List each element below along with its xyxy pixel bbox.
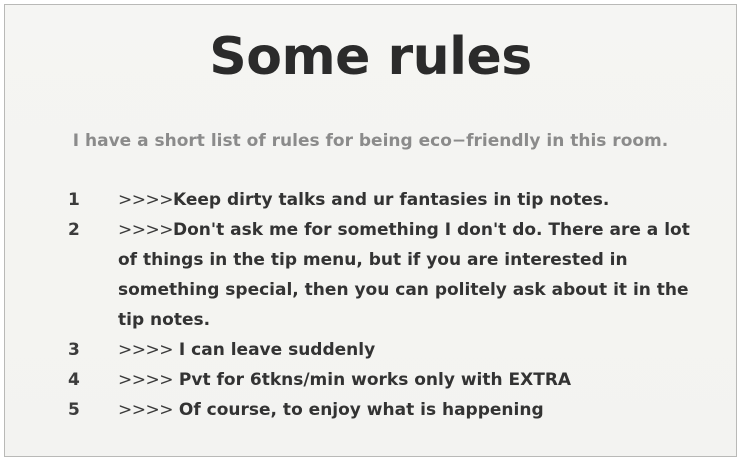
rule-number: 3 <box>68 335 118 365</box>
chevron-marker-icon: >>>> <box>118 400 173 420</box>
page-subtitle: I have a short list of rules for being e… <box>5 131 736 151</box>
rule-text-content: Keep dirty talks and ur fantasies in tip… <box>173 190 609 210</box>
chevron-marker-icon: >>>> <box>118 220 173 240</box>
list-item: 5 >>>> Of course, to enjoy what is happe… <box>68 395 690 425</box>
list-item: 1 >>>>Keep dirty talks and ur fantasies … <box>68 185 690 215</box>
rule-number: 5 <box>68 395 118 425</box>
list-item: 2 >>>>Don't ask me for something I don't… <box>68 215 690 335</box>
rule-number: 4 <box>68 365 118 395</box>
page-title: Some rules <box>5 29 736 86</box>
rules-card: Some rules I have a short list of rules … <box>4 4 737 457</box>
rule-text: >>>>Don't ask me for something I don't d… <box>118 215 690 335</box>
chevron-marker-icon: >>>> <box>118 340 173 360</box>
list-item: 3 >>>> I can leave suddenly <box>68 335 690 365</box>
rule-text-content: Of course, to enjoy what is happening <box>173 400 544 420</box>
list-item: 4 >>>> Pvt for 6tkns/min works only with… <box>68 365 690 395</box>
rule-text-content: Pvt for 6tkns/min works only with EXTRA <box>173 370 571 390</box>
rule-number: 2 <box>68 215 118 245</box>
rule-text: >>>> Of course, to enjoy what is happeni… <box>118 395 690 425</box>
rules-card-inner: Some rules I have a short list of rules … <box>5 5 736 456</box>
chevron-marker-icon: >>>> <box>118 370 173 390</box>
rule-number: 1 <box>68 185 118 215</box>
rule-text: >>>> Pvt for 6tkns/min works only with E… <box>118 365 690 395</box>
rule-text: >>>>Keep dirty talks and ur fantasies in… <box>118 185 690 215</box>
rule-text-content: Don't ask me for something I don't do. T… <box>118 220 696 330</box>
rule-text: >>>> I can leave suddenly <box>118 335 690 365</box>
chevron-marker-icon: >>>> <box>118 190 173 210</box>
rules-list: 1 >>>>Keep dirty talks and ur fantasies … <box>68 185 690 425</box>
rule-text-content: I can leave suddenly <box>173 340 375 360</box>
